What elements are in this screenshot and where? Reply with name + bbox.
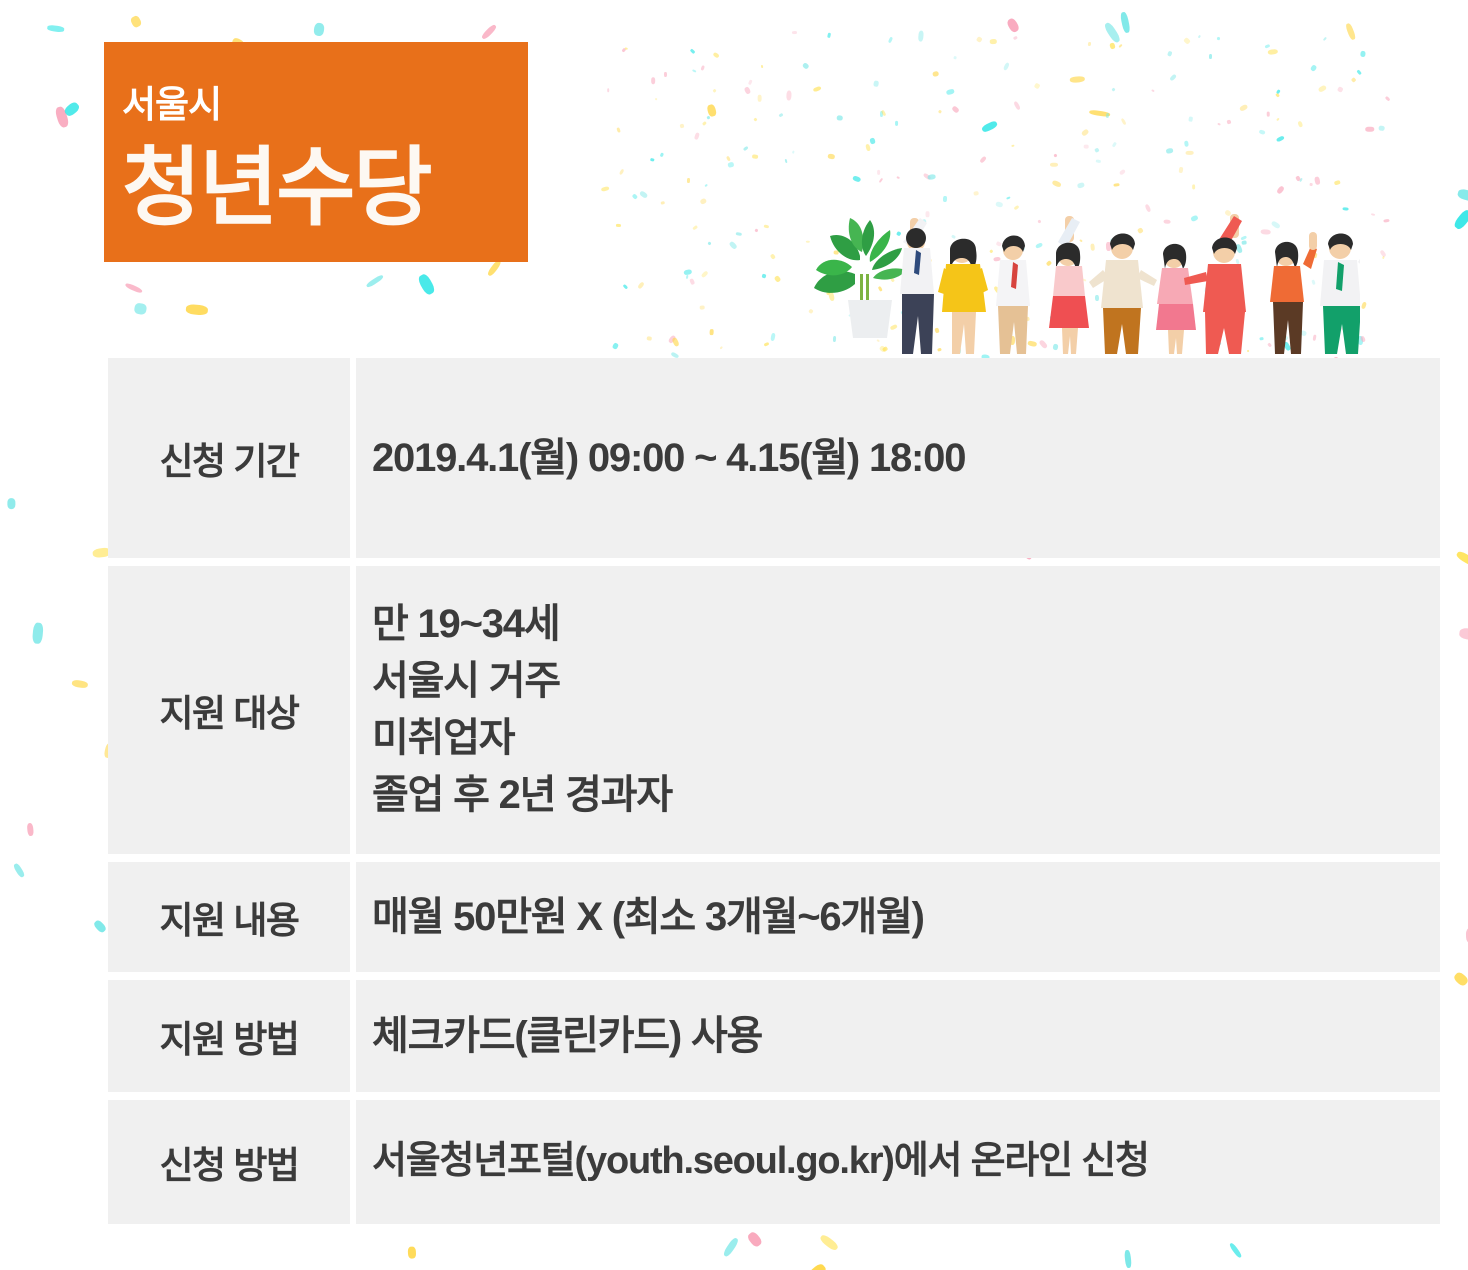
confetti-speck bbox=[791, 150, 794, 153]
confetti-speck bbox=[707, 242, 711, 246]
confetti-speck bbox=[973, 190, 979, 195]
confetti-speck bbox=[621, 48, 626, 53]
banner-program-title: 청년수당 bbox=[122, 145, 528, 231]
confetti-speck bbox=[743, 146, 749, 152]
confetti-speck bbox=[702, 122, 706, 126]
confetti-speck bbox=[1105, 113, 1109, 119]
confetti-speck bbox=[1297, 120, 1303, 127]
confetti-fleck bbox=[1089, 109, 1110, 117]
confetti-speck bbox=[1323, 37, 1327, 41]
confetti-speck bbox=[1053, 153, 1057, 157]
confetti-speck bbox=[1371, 214, 1375, 217]
confetti-fleck bbox=[26, 823, 34, 837]
confetti-fleck bbox=[71, 679, 88, 689]
confetti-fleck bbox=[481, 24, 498, 41]
confetti-speck bbox=[760, 65, 763, 68]
value-line: 서울시 거주 bbox=[372, 653, 1440, 710]
confetti-fleck bbox=[1457, 189, 1468, 203]
confetti-speck bbox=[1334, 180, 1340, 185]
confetti-fleck bbox=[807, 1262, 827, 1270]
row-label-eligibility: 지원 대상 bbox=[108, 566, 350, 854]
confetti-speck bbox=[1361, 302, 1367, 310]
confetti-speck bbox=[668, 334, 677, 344]
row-value-eligibility: 만 19~34세 서울시 거주 미취업자 졸업 후 2년 경과자 bbox=[356, 566, 1440, 854]
confetti-speck bbox=[1382, 255, 1385, 258]
confetti-speck bbox=[979, 155, 987, 163]
confetti-speck bbox=[869, 137, 875, 144]
confetti-speck bbox=[1318, 85, 1327, 93]
confetti-speck bbox=[1119, 169, 1126, 176]
confetti-speck bbox=[1359, 51, 1365, 57]
confetti-speck bbox=[946, 89, 955, 96]
confetti-speck bbox=[612, 343, 619, 350]
confetti-speck bbox=[989, 39, 996, 44]
row-label-apply: 신청 방법 bbox=[108, 1100, 350, 1224]
confetti-speck bbox=[837, 115, 843, 120]
confetti-speck bbox=[877, 170, 880, 175]
confetti-speck bbox=[1002, 62, 1010, 71]
confetti-fleck bbox=[366, 274, 384, 288]
confetti-speck bbox=[1267, 112, 1270, 117]
confetti-speck bbox=[1217, 37, 1220, 41]
row-label-benefit: 지원 내용 bbox=[108, 862, 350, 972]
confetti-speck bbox=[1295, 175, 1301, 181]
confetti-speck bbox=[1356, 69, 1361, 74]
confetti-fleck bbox=[1070, 76, 1085, 83]
confetti-fleck bbox=[1124, 1250, 1132, 1269]
banner-city-label: 서울시 bbox=[122, 86, 528, 123]
confetti-fleck bbox=[1006, 17, 1021, 34]
confetti-speck bbox=[1051, 179, 1062, 187]
confetti-speck bbox=[1111, 87, 1115, 91]
confetti-speck bbox=[748, 79, 752, 85]
confetti-fleck bbox=[981, 120, 998, 133]
confetti-fleck bbox=[134, 302, 148, 315]
confetti-speck bbox=[865, 143, 871, 151]
confetti-speck bbox=[1183, 140, 1188, 146]
confetti-speck bbox=[976, 36, 983, 43]
confetti-speck bbox=[1337, 86, 1344, 93]
row-label-method: 지원 방법 bbox=[108, 980, 350, 1092]
table-row-apply: 신청 방법 서울청년포털(youth.seoul.go.kr)에서 온라인 신청 bbox=[108, 1100, 1440, 1224]
confetti-fleck bbox=[313, 22, 325, 37]
row-value-apply: 서울청년포털(youth.seoul.go.kr)에서 온라인 신청 bbox=[356, 1100, 1440, 1224]
confetti-speck bbox=[1013, 36, 1018, 40]
confetti-speck bbox=[785, 159, 788, 163]
confetti-speck bbox=[770, 333, 776, 342]
confetti-speck bbox=[1081, 128, 1090, 136]
confetti-speck bbox=[1217, 123, 1220, 126]
confetti-speck bbox=[953, 56, 956, 60]
confetti-speck bbox=[1383, 219, 1389, 223]
confetti-fleck bbox=[130, 14, 143, 28]
value-line: 미취업자 bbox=[372, 710, 1440, 767]
row-value-benefit: 매월 50만원 X (최소 3개월~6개월) bbox=[356, 862, 1440, 972]
confetti-fleck bbox=[32, 623, 44, 644]
row-value-method: 체크카드(클린카드) 사용 bbox=[356, 980, 1440, 1092]
confetti-fleck bbox=[13, 863, 26, 879]
confetti-speck bbox=[699, 305, 704, 310]
confetti-speck bbox=[764, 342, 770, 347]
confetti-speck bbox=[792, 31, 797, 34]
table-row-benefit: 지원 내용 매월 50만원 X (최소 3개월~6개월) bbox=[108, 862, 1440, 972]
confetti-speck bbox=[1165, 147, 1173, 153]
confetti-speck bbox=[639, 190, 648, 199]
confetti-speck bbox=[918, 31, 924, 42]
confetti-speck bbox=[1239, 104, 1249, 113]
confetti-speck bbox=[1113, 183, 1119, 187]
confetti-speck bbox=[651, 77, 655, 84]
table-row-eligibility: 지원 대상 만 19~34세 서울시 거주 미취업자 졸업 후 2년 경과자 bbox=[108, 566, 1440, 854]
confetti-speck bbox=[686, 178, 689, 183]
confetti-speck bbox=[726, 156, 731, 162]
confetti-speck bbox=[719, 346, 723, 350]
confetti-speck bbox=[752, 154, 758, 159]
confetti-speck bbox=[616, 224, 621, 227]
confetti-fleck bbox=[1229, 1243, 1243, 1260]
confetti-speck bbox=[827, 154, 835, 160]
confetti-speck bbox=[1178, 167, 1183, 173]
confetti-speck bbox=[692, 69, 696, 72]
confetti-speck bbox=[1310, 183, 1313, 186]
confetti-speck bbox=[692, 225, 698, 230]
confetti-speck bbox=[1343, 207, 1349, 211]
confetti-speck bbox=[1112, 141, 1117, 146]
confetti-speck bbox=[1258, 130, 1265, 136]
poster-root: 서울시 청년수당 bbox=[0, 0, 1468, 1270]
confetti-speck bbox=[632, 194, 639, 201]
figure-man-white-shirt-red-tie bbox=[996, 236, 1030, 355]
confetti-speck bbox=[753, 118, 757, 122]
confetti-speck bbox=[701, 271, 708, 278]
value-line: 서울청년포털(youth.seoul.go.kr)에서 온라인 신청 bbox=[372, 1135, 1440, 1189]
confetti-speck bbox=[700, 197, 708, 204]
confetti-speck bbox=[763, 225, 769, 229]
confetti-speck bbox=[1006, 196, 1010, 200]
confetti-fleck bbox=[1459, 627, 1468, 640]
confetti-speck bbox=[874, 80, 880, 86]
celebrating-youth-group-illustration bbox=[800, 212, 1360, 364]
row-value-period: 2019.4.1(월) 09:00 ~ 4.15(월) 18:00 bbox=[356, 358, 1440, 558]
confetti-speck bbox=[881, 110, 887, 116]
row-label-period: 신청 기간 bbox=[108, 358, 350, 558]
confetti-speck bbox=[895, 121, 898, 126]
confetti-speck bbox=[932, 71, 939, 78]
confetti-speck bbox=[923, 173, 932, 181]
confetti-speck bbox=[995, 201, 1003, 207]
confetti-speck bbox=[735, 231, 741, 235]
confetti-speck bbox=[1096, 160, 1101, 163]
confetti-speck bbox=[1109, 43, 1115, 50]
confetti-speck bbox=[1209, 54, 1212, 59]
confetti-speck bbox=[637, 282, 644, 290]
confetti-speck bbox=[813, 85, 822, 92]
confetti-speck bbox=[1226, 119, 1231, 124]
confetti-fleck bbox=[1346, 22, 1357, 40]
confetti-speck bbox=[619, 169, 625, 176]
confetti-speck bbox=[1168, 50, 1173, 56]
figure-man-red-suit bbox=[1184, 214, 1246, 354]
confetti-fleck bbox=[47, 25, 64, 33]
value-line: 매월 50만원 X (최소 3개월~6개월) bbox=[372, 889, 1440, 946]
confetti-speck bbox=[1309, 64, 1317, 72]
confetti-speck bbox=[1034, 84, 1040, 90]
confetti-speck bbox=[927, 174, 936, 180]
confetti-speck bbox=[1011, 144, 1015, 147]
confetti-fleck bbox=[722, 1237, 740, 1258]
potted-monstera-plant-icon bbox=[814, 218, 906, 338]
confetti-fleck bbox=[1452, 208, 1468, 230]
confetti-speck bbox=[1365, 127, 1374, 132]
confetti-fleck bbox=[1120, 12, 1131, 34]
confetti-speck bbox=[712, 89, 716, 93]
info-table: 신청 기간 2019.4.1(월) 09:00 ~ 4.15(월) 18:00 … bbox=[108, 358, 1440, 1224]
confetti-speck bbox=[1314, 177, 1320, 186]
confetti-fleck bbox=[417, 273, 436, 296]
confetti-speck bbox=[1184, 37, 1191, 44]
confetti-speck bbox=[1169, 74, 1177, 82]
confetti-speck bbox=[1352, 77, 1357, 82]
confetti-speck bbox=[1151, 89, 1155, 93]
title-banner: 서울시 청년수당 bbox=[104, 42, 528, 262]
confetti-speck bbox=[896, 176, 900, 179]
confetti-speck bbox=[680, 124, 685, 129]
confetti-speck bbox=[1378, 125, 1385, 131]
confetti-fleck bbox=[408, 1246, 417, 1258]
confetti-speck bbox=[1121, 118, 1127, 125]
confetti-speck bbox=[689, 279, 695, 286]
confetti-speck bbox=[1379, 249, 1386, 257]
confetti-speck bbox=[728, 161, 735, 167]
confetti-speck bbox=[951, 105, 960, 113]
confetti-speck bbox=[646, 336, 651, 341]
confetti-speck bbox=[625, 47, 628, 50]
confetti-fleck bbox=[92, 919, 106, 934]
confetti-fleck bbox=[746, 1230, 763, 1248]
confetti-speck bbox=[685, 275, 688, 279]
confetti-speck bbox=[713, 52, 720, 59]
confetti-speck bbox=[879, 177, 884, 182]
confetti-speck bbox=[762, 273, 767, 278]
value-line: 2019.4.1(월) 09:00 ~ 4.15(월) 18:00 bbox=[372, 430, 1440, 487]
confetti-speck bbox=[1275, 93, 1280, 98]
confetti-speck bbox=[694, 132, 700, 140]
confetti-speck bbox=[655, 97, 658, 100]
confetti-speck bbox=[1276, 118, 1279, 121]
confetti-speck bbox=[1267, 49, 1278, 56]
confetti-speck bbox=[852, 175, 861, 183]
confetti-speck bbox=[1186, 151, 1194, 155]
confetti-speck bbox=[701, 65, 706, 71]
confetti-speck bbox=[650, 158, 654, 162]
confetti-fleck bbox=[707, 103, 718, 117]
confetti-speck bbox=[827, 32, 831, 37]
confetti-speck bbox=[710, 329, 714, 335]
confetti-speck bbox=[616, 127, 620, 132]
confetti-speck bbox=[1095, 147, 1100, 152]
confetti-fleck bbox=[186, 304, 208, 316]
confetti-fleck bbox=[54, 106, 70, 129]
confetti-speck bbox=[1088, 42, 1091, 46]
confetti-speck bbox=[1077, 182, 1085, 189]
figure-woman-orange-top-brown-pants bbox=[1270, 232, 1317, 354]
figure-woman-pink-top-red-skirt bbox=[1049, 216, 1089, 354]
confetti-speck bbox=[744, 87, 751, 96]
confetti-speck bbox=[1276, 89, 1280, 94]
confetti-speck bbox=[943, 196, 947, 202]
confetti-fleck bbox=[1455, 550, 1468, 567]
confetti-speck bbox=[1276, 185, 1285, 194]
confetti-speck bbox=[754, 228, 758, 232]
figure-man-beige-shirt-brown-pants bbox=[1089, 234, 1157, 355]
confetti-speck bbox=[938, 110, 942, 114]
value-line: 졸업 후 2년 경과자 bbox=[372, 767, 1440, 824]
confetti-speck bbox=[664, 72, 667, 77]
figure-woman-pink-dress bbox=[1156, 244, 1196, 354]
confetti-speck bbox=[1385, 96, 1391, 102]
confetti-speck bbox=[888, 37, 893, 44]
confetti-speck bbox=[660, 200, 665, 204]
confetti-speck bbox=[622, 283, 628, 289]
confetti-fleck bbox=[1453, 971, 1468, 988]
confetti-speck bbox=[1013, 204, 1019, 209]
confetti-speck bbox=[774, 275, 781, 283]
confetti-fleck bbox=[7, 498, 15, 509]
confetti-fleck bbox=[818, 1233, 839, 1252]
confetti-speck bbox=[671, 338, 679, 348]
confetti-speck bbox=[1192, 184, 1195, 189]
confetti-speck bbox=[1084, 145, 1089, 149]
confetti-fleck bbox=[124, 282, 142, 294]
confetti-speck bbox=[1198, 34, 1202, 38]
confetti-speck bbox=[1118, 43, 1122, 47]
table-row-period: 신청 기간 2019.4.1(월) 09:00 ~ 4.15(월) 18:00 bbox=[108, 358, 1440, 558]
confetti-speck bbox=[1051, 163, 1059, 167]
confetti-speck bbox=[1360, 335, 1366, 342]
confetti-speck bbox=[729, 241, 738, 250]
confetti-fleck bbox=[63, 101, 81, 118]
confetti-speck bbox=[1265, 44, 1271, 49]
confetti-speck bbox=[684, 268, 693, 275]
confetti-speck bbox=[801, 62, 809, 70]
confetti-speck bbox=[770, 253, 776, 260]
value-line: 체크카드(클린카드) 사용 bbox=[372, 1008, 1440, 1065]
figure-woman-yellow-dress bbox=[938, 239, 988, 354]
confetti-speck bbox=[706, 116, 710, 120]
confetti-speck bbox=[786, 90, 792, 101]
confetti-speck bbox=[705, 184, 709, 188]
confetti-speck bbox=[1189, 116, 1193, 121]
confetti-speck bbox=[601, 186, 610, 192]
confetti-speck bbox=[1276, 136, 1285, 143]
figure-man-white-shirt-navy-tie bbox=[900, 218, 934, 354]
table-row-method: 지원 방법 체크카드(클린카드) 사용 bbox=[108, 980, 1440, 1092]
confetti-speck bbox=[607, 87, 609, 91]
value-line: 만 19~34세 bbox=[372, 596, 1440, 653]
confetti-speck bbox=[659, 153, 664, 158]
confetti-speck bbox=[880, 111, 883, 117]
confetti-speck bbox=[1013, 101, 1021, 111]
confetti-speck bbox=[690, 49, 695, 54]
confetti-fleck bbox=[1103, 22, 1122, 45]
figure-man-green-pants-green-tie bbox=[1320, 234, 1360, 355]
confetti-speck bbox=[779, 113, 784, 117]
confetti-speck bbox=[758, 95, 762, 102]
confetti-speck bbox=[1299, 177, 1303, 182]
